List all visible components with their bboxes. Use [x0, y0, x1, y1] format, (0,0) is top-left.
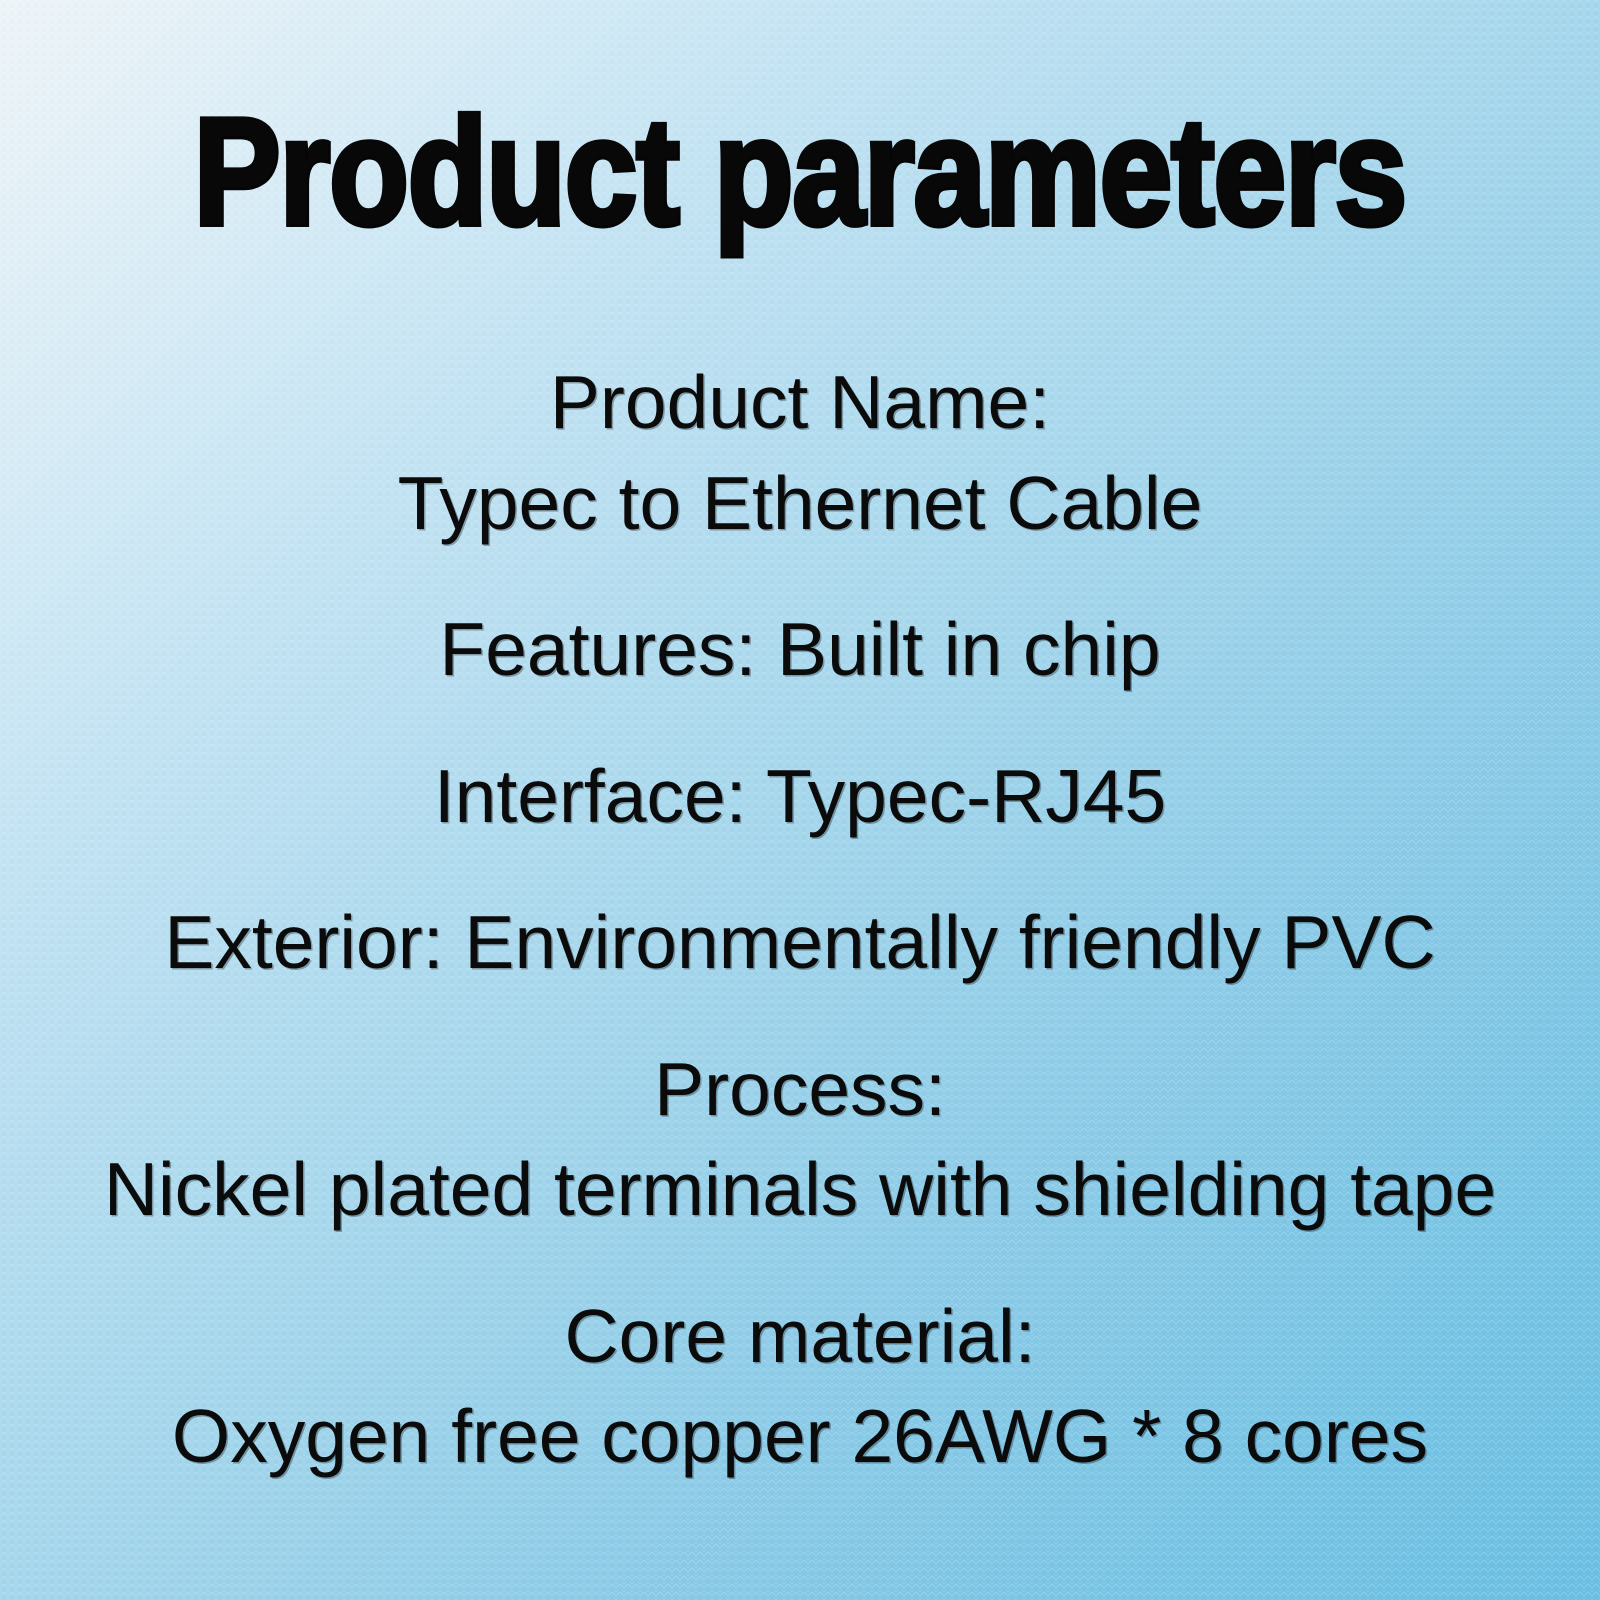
spec-item-core-material: Core material: Oxygen free copper 26AWG …: [0, 1286, 1600, 1487]
page-title: Product parameters: [0, 96, 1600, 248]
spec-value: Nickel plated terminals with shielding t…: [0, 1139, 1600, 1240]
spec-item-product-name: Product Name: Typec to Ethernet Cable: [0, 352, 1600, 553]
poster-content: Product parameters Product Name: Typec t…: [0, 0, 1600, 1600]
spec-list: Product Name: Typec to Ethernet Cable Fe…: [0, 352, 1600, 1487]
spec-label: Core material:: [0, 1286, 1600, 1387]
spec-label: Product Name:: [0, 352, 1600, 453]
spec-item-process: Process: Nickel plated terminals with sh…: [0, 1039, 1600, 1240]
spec-label: Exterior: Environmentally friendly PVC: [0, 892, 1600, 993]
spec-item-exterior: Exterior: Environmentally friendly PVC: [0, 892, 1600, 993]
spec-value: Oxygen free copper 26AWG * 8 cores: [0, 1386, 1600, 1487]
spec-item-features: Features: Built in chip: [0, 599, 1600, 700]
spec-item-interface: Interface: Typec-RJ45: [0, 746, 1600, 847]
spec-label: Features: Built in chip: [0, 599, 1600, 700]
product-parameters-poster: Product parameters Product Name: Typec t…: [0, 0, 1600, 1600]
spec-label: Interface: Typec-RJ45: [0, 746, 1600, 847]
page-title-text: Product parameters: [194, 96, 1406, 248]
spec-value: Typec to Ethernet Cable: [0, 453, 1600, 554]
spec-label: Process:: [0, 1039, 1600, 1140]
